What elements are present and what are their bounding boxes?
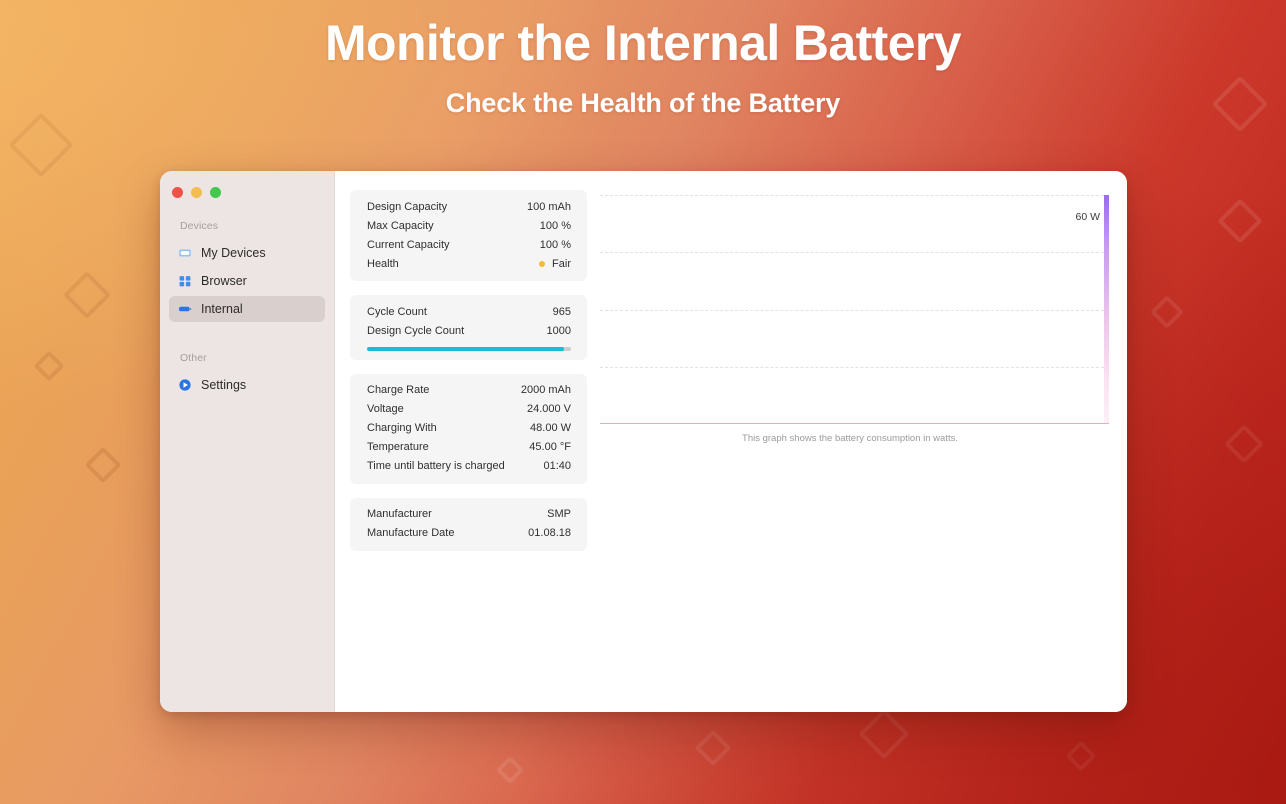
decor-diamond: [1224, 424, 1264, 464]
display-icon: [178, 246, 192, 260]
row-label: Manufacture Date: [367, 527, 454, 539]
row-label: Temperature: [367, 441, 429, 453]
cycle-count-card: Cycle Count 965 Design Cycle Count 1000: [350, 295, 587, 360]
row-label: Charging With: [367, 422, 437, 434]
row-value: 48.00 W: [530, 422, 571, 434]
row-value: 01:40: [543, 460, 571, 472]
row-value: Fair: [552, 258, 571, 270]
info-row: Manufacture Date 01.08.18: [367, 524, 571, 543]
decor-diamond: [1065, 740, 1096, 771]
content-area: Design Capacity 100 mAh Max Capacity 100…: [335, 171, 1127, 712]
sidebar-item-label: My Devices: [201, 246, 266, 260]
row-label: Cycle Count: [367, 306, 427, 318]
info-row: Design Cycle Count 1000: [367, 321, 571, 340]
info-row: Max Capacity 100 %: [367, 216, 571, 235]
sidebar-item-label: Internal: [201, 302, 243, 316]
info-row: Charging With 48.00 W: [367, 419, 571, 438]
page-subtitle: Check the Health of the Battery: [0, 88, 1286, 119]
chart-caption: This graph shows the battery consumption…: [597, 433, 1109, 444]
row-label: Charge Rate: [367, 384, 429, 396]
decor-diamond: [1150, 295, 1184, 329]
page-title: Monitor the Internal Battery: [0, 14, 1286, 72]
row-value: 100 mAh: [527, 201, 571, 213]
row-label: Design Capacity: [367, 201, 447, 213]
chart-gridline: [600, 195, 1109, 196]
row-label: Health: [367, 258, 399, 270]
sidebar-item-my-devices[interactable]: My Devices: [169, 240, 325, 266]
decor-diamond: [496, 756, 524, 784]
charging-card: Charge Rate 2000 mAh Voltage 24.000 V Ch…: [350, 374, 587, 484]
chart-bar-0: [1104, 195, 1109, 423]
row-value: 100 %: [540, 239, 571, 251]
chart-data-label-0: 60 W: [1075, 211, 1100, 223]
decor-diamond: [63, 271, 111, 319]
info-row: Cycle Count 965: [367, 302, 571, 321]
consumption-chart: 60 W This graph shows the battery consum…: [587, 190, 1127, 712]
chart-gridline: [600, 310, 1109, 311]
row-label: Time until battery is charged: [367, 460, 505, 472]
decor-diamond: [85, 447, 122, 484]
row-value: 100 %: [540, 220, 571, 232]
hero-headings: Monitor the Internal Battery Check the H…: [0, 0, 1286, 119]
sidebar-section-header-devices: Devices: [160, 198, 334, 238]
decor-diamond: [859, 709, 910, 760]
battery-info-column: Design Capacity 100 mAh Max Capacity 100…: [335, 190, 587, 712]
cycle-progress-fill: [367, 347, 564, 351]
chart-gridline: [600, 367, 1109, 368]
sidebar-item-browser[interactable]: Browser: [169, 268, 325, 294]
info-row: Voltage 24.000 V: [367, 400, 571, 419]
status-badge-dot: [539, 261, 545, 267]
row-value: 01.08.18: [528, 527, 571, 539]
row-value: 2000 mAh: [521, 384, 571, 396]
info-row: Manufacturer SMP: [367, 505, 571, 524]
info-row-health: Health Fair: [367, 254, 571, 273]
minimize-button[interactable]: [191, 187, 202, 198]
info-row: Design Capacity 100 mAh: [367, 197, 571, 216]
info-row: Current Capacity 100 %: [367, 235, 571, 254]
info-row: Time until battery is charged 01:40: [367, 457, 571, 476]
app-background: Monitor the Internal Battery Check the H…: [0, 0, 1286, 804]
manufacturer-card: Manufacturer SMP Manufacture Date 01.08.…: [350, 498, 587, 551]
app-window: Devices My Devices Browser: [160, 171, 1127, 712]
battery-icon: [178, 302, 192, 316]
row-value: 1000: [547, 325, 571, 337]
row-value: 24.000 V: [527, 403, 571, 415]
zoom-button[interactable]: [210, 187, 221, 198]
chart-baseline: [600, 423, 1109, 425]
sidebar-section-header-other: Other: [160, 324, 334, 370]
close-button[interactable]: [172, 187, 183, 198]
decor-diamond: [33, 350, 64, 381]
row-label: Manufacturer: [367, 508, 432, 520]
chart-plot-area: 60 W: [600, 195, 1109, 424]
row-label: Design Cycle Count: [367, 325, 464, 337]
sidebar: Devices My Devices Browser: [160, 171, 335, 712]
capacity-card: Design Capacity 100 mAh Max Capacity 100…: [350, 190, 587, 281]
window-traffic-lights: [160, 180, 334, 198]
row-label: Current Capacity: [367, 239, 450, 251]
decor-diamond: [8, 112, 73, 177]
row-value: 45.00 °F: [529, 441, 571, 453]
grid-icon: [178, 274, 192, 288]
cycle-progress-bar: [367, 347, 571, 351]
row-label: Voltage: [367, 403, 404, 415]
settings-icon: [178, 378, 192, 392]
sidebar-item-label: Browser: [201, 274, 247, 288]
info-row: Temperature 45.00 °F: [367, 438, 571, 457]
chart-gridline: [600, 252, 1109, 253]
sidebar-item-internal[interactable]: Internal: [169, 296, 325, 322]
row-value: SMP: [547, 508, 571, 520]
row-label: Max Capacity: [367, 220, 434, 232]
sidebar-item-label: Settings: [201, 378, 246, 392]
row-value: 965: [553, 306, 571, 318]
decor-diamond: [695, 730, 732, 767]
health-value-group: Fair: [539, 258, 571, 270]
decor-diamond: [1217, 198, 1262, 243]
info-row: Charge Rate 2000 mAh: [367, 381, 571, 400]
sidebar-item-settings[interactable]: Settings: [169, 372, 325, 398]
